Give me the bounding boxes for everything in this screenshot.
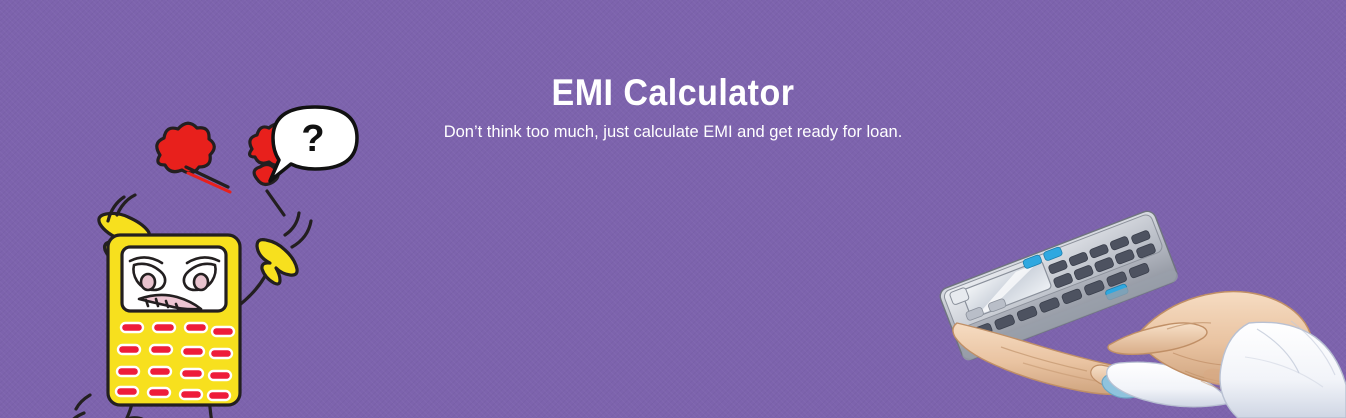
blue-cuff — [1102, 373, 1142, 398]
emi-calculator-banner: .ol { stroke:#231f20; stroke-width:3.2; … — [0, 0, 1346, 418]
page-subtitle: Don’t think too much, just calculate EMI… — [0, 121, 1346, 143]
index-finger — [1108, 323, 1207, 354]
pointing-hand — [1108, 291, 1312, 391]
solar-cell — [949, 287, 970, 305]
calculator-accent-keys — [1022, 229, 1129, 324]
mascot-screen — [122, 247, 226, 311]
mascot-legs — [69, 380, 246, 418]
calculator-display — [961, 260, 1052, 319]
mascot-body — [108, 235, 240, 405]
speech-bubble: ? — [270, 107, 357, 181]
hand-holding-calculator-illustration — [905, 205, 1346, 418]
page-title: EMI Calculator — [54, 73, 1292, 113]
calculator-keys — [955, 215, 1166, 350]
mascot-angry-face — [130, 257, 219, 309]
right-sleeve — [1220, 321, 1346, 418]
pocket-calculator — [938, 209, 1180, 362]
mascot-right-arm — [233, 213, 311, 310]
supporting-hand — [953, 323, 1151, 395]
left-sleeve — [1107, 362, 1231, 407]
mascot-left-arm — [99, 195, 150, 310]
angry-calculator-mascot: .ol { stroke:#231f20; stroke-width:3.2; … — [60, 95, 390, 418]
mascot-keypad — [116, 323, 234, 400]
